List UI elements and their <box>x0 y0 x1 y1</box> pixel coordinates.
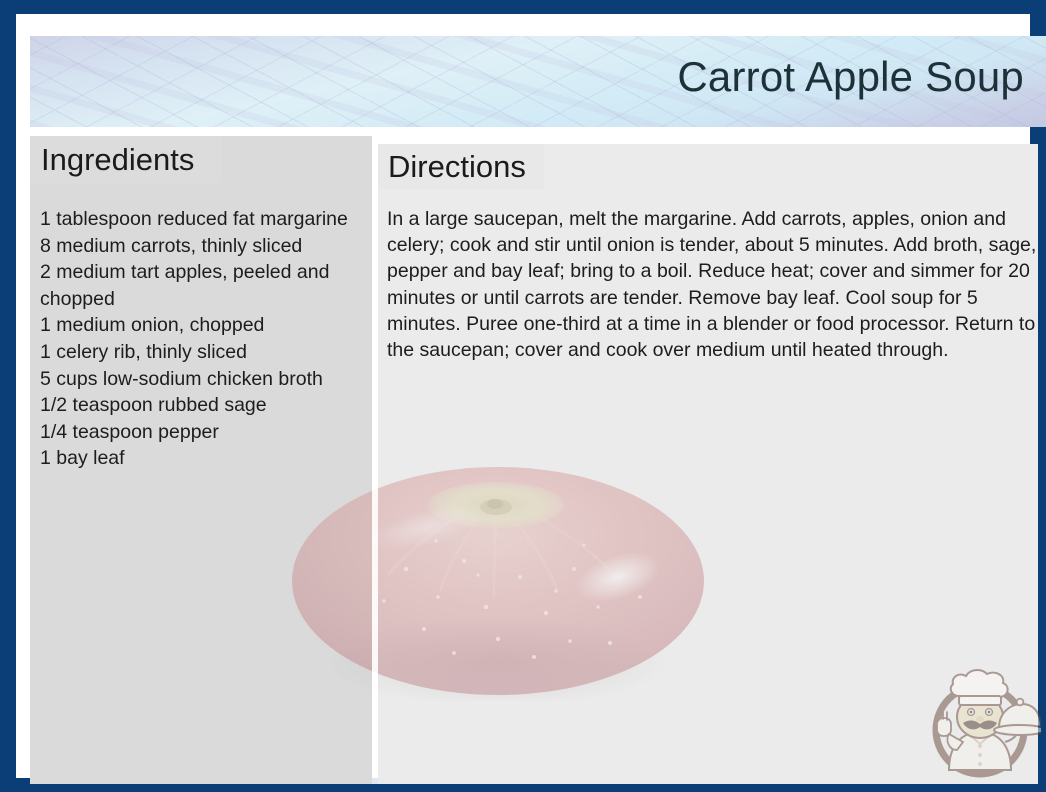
ingredients-tab-label: Ingredients <box>41 144 194 175</box>
list-item: 1 bay leaf <box>40 445 370 472</box>
header-banner: Carrot Apple Soup <box>30 36 1046 127</box>
list-item: 1/4 teaspoon pepper <box>40 419 370 446</box>
list-item: 1 tablespoon reduced fat margarine <box>40 206 370 233</box>
directions-body-text: In a large saucepan, melt the margarine.… <box>387 206 1037 363</box>
list-item: 1 medium onion, chopped <box>40 312 370 339</box>
ingredients-panel: Ingredients 1 tablespoon reduced fat mar… <box>30 136 372 784</box>
directions-tab-label: Directions <box>388 151 526 182</box>
list-item: 1 celery rib, thinly sliced <box>40 339 370 366</box>
slide-canvas: Carrot Apple Soup Ingredients 1 tablespo… <box>16 14 1030 778</box>
tab-directions[interactable]: Directions <box>378 144 544 189</box>
chef-logo-icon <box>919 662 1041 784</box>
list-item: 5 cups low-sodium chicken broth <box>40 366 370 393</box>
list-item: 2 medium tart apples, peeled and chopped <box>40 259 370 312</box>
recipe-slide: Carrot Apple Soup Ingredients 1 tablespo… <box>0 0 1046 792</box>
panel-divider <box>372 136 378 784</box>
list-item: 8 medium carrots, thinly sliced <box>40 233 370 260</box>
ingredients-list: 1 tablespoon reduced fat margarine 8 med… <box>40 206 370 472</box>
page-title: Carrot Apple Soup <box>677 52 1024 102</box>
list-item: 1/2 teaspoon rubbed sage <box>40 392 370 419</box>
tab-ingredients[interactable]: Ingredients <box>30 136 221 183</box>
